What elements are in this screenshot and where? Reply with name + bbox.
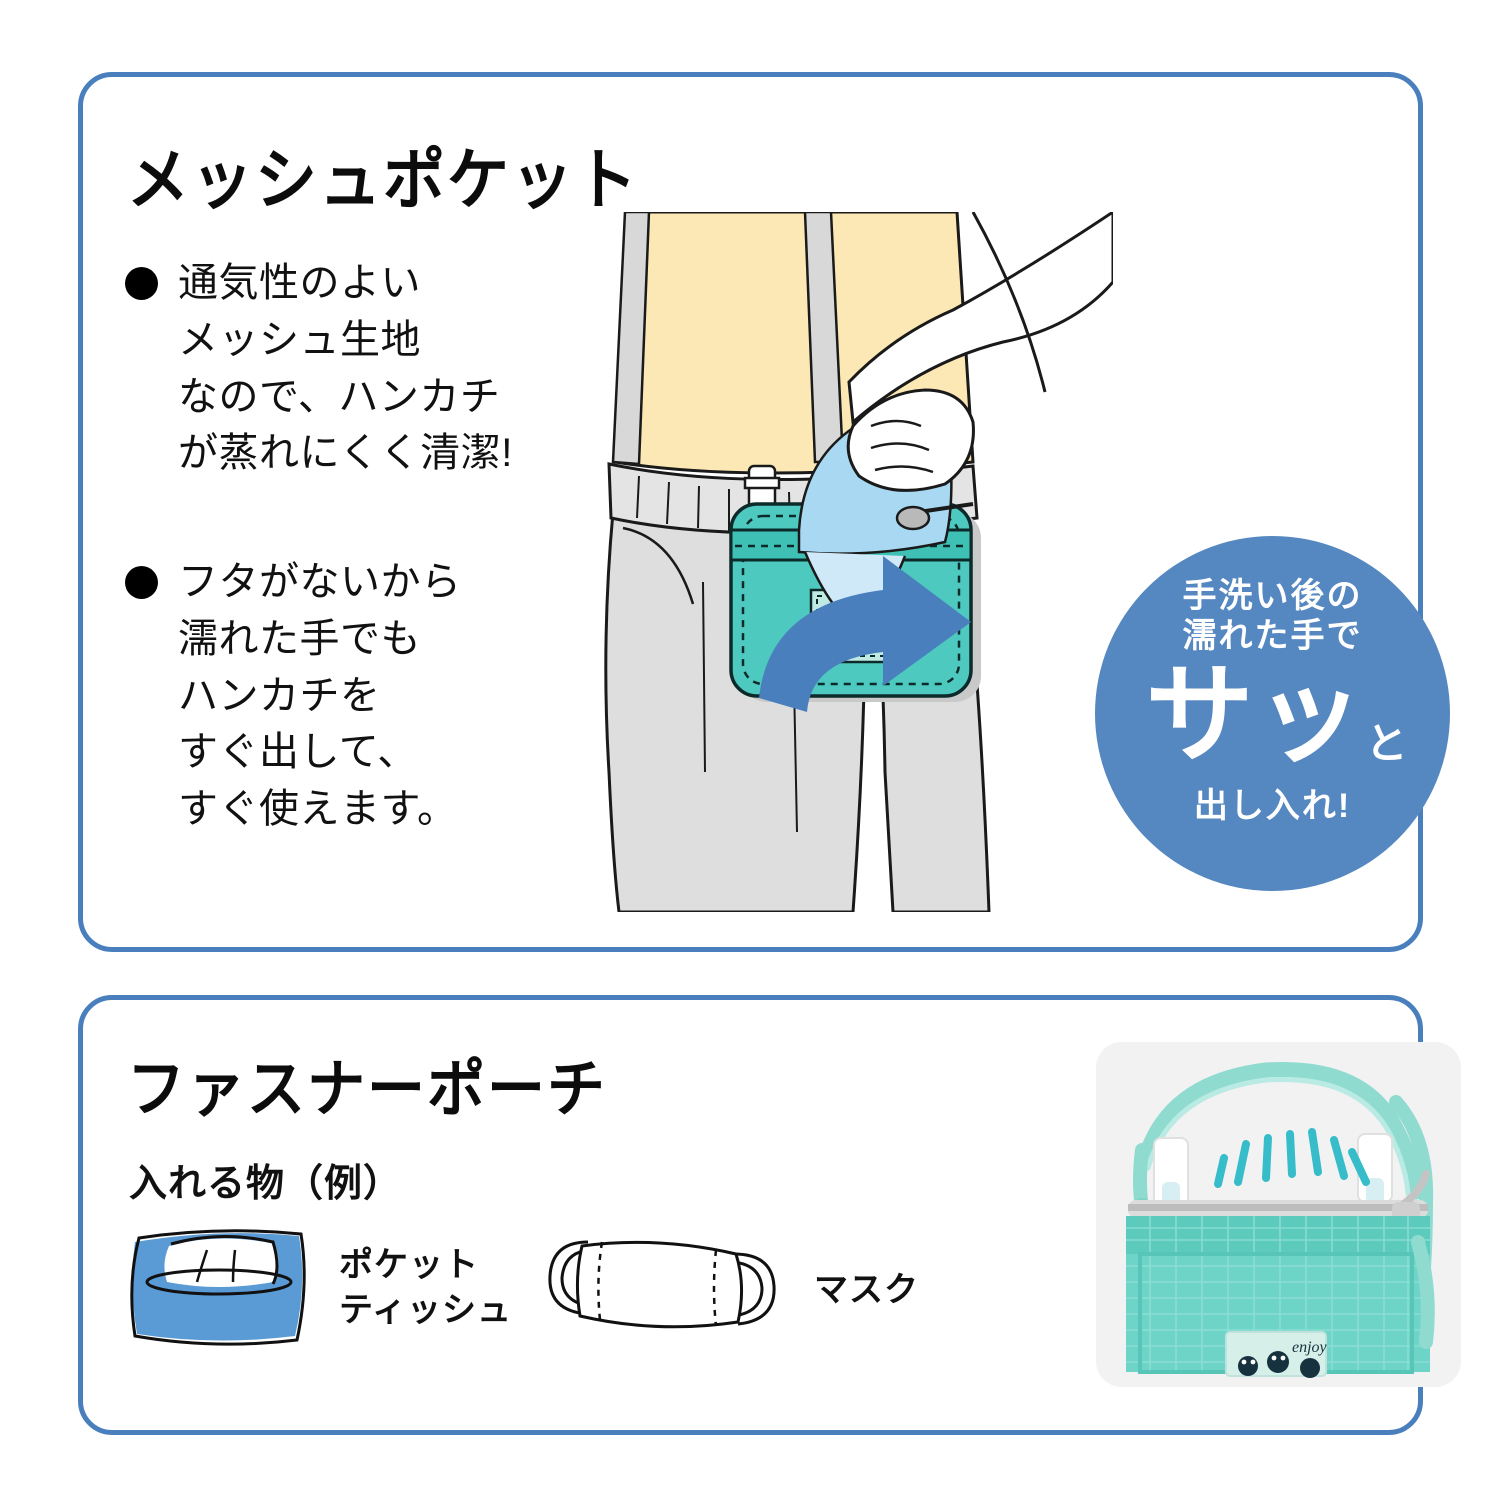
subhead-contents-example: 入れる物（例） xyxy=(129,1152,402,1207)
list-item: マスク xyxy=(538,1228,919,1353)
zipper-pouch-panel: ファスナーポーチ 入れる物（例） ポケット ティッシュ xyxy=(78,995,1423,1435)
badge-big-text: サッと xyxy=(1105,662,1450,770)
product-tag-text: enjoy xyxy=(1292,1339,1328,1356)
bullet-dot-icon xyxy=(125,267,158,300)
list-item-label: ポケット ティッシュ xyxy=(339,1243,512,1331)
bullet-dot-icon xyxy=(125,566,158,599)
mesh-pocket-panel: メッシュポケット 通気性のよい メッシュ生地 なので、ハンカチ が蒸れにくく清潔… xyxy=(78,72,1423,952)
badge-big-suffix: と xyxy=(1366,719,1410,768)
list-item-label: マスク xyxy=(814,1268,919,1312)
bullet-text: 通気性のよい メッシュ生地 なので、ハンカチ が蒸れにくく清潔! xyxy=(178,255,513,482)
person-wearing-pouch-illustration xyxy=(553,212,1113,912)
list-item: ポケット ティッシュ xyxy=(123,1220,512,1355)
bullet-item: 通気性のよい メッシュ生地 なので、ハンカチ が蒸れにくく清潔! xyxy=(125,255,513,482)
page-title-zipper-pouch: ファスナーポーチ xyxy=(127,1038,607,1129)
badge-big-word: サッ xyxy=(1145,653,1365,778)
mesh-pouch-product-photo: enjoy xyxy=(1096,1042,1461,1387)
pocket-tissue-icon xyxy=(123,1220,313,1355)
badge-bottom-text: 出し入れ! xyxy=(1095,786,1450,826)
bullet-item: フタがないから 濡れた手でも ハンカチを すぐ出して、 すぐ使えます。 xyxy=(125,554,462,838)
face-mask-icon xyxy=(538,1228,788,1353)
badge-top-text: 手洗い後の 濡れた手で xyxy=(1095,576,1450,656)
status-badge: 手洗い後の 濡れた手で サッと 出し入れ! xyxy=(1095,536,1450,891)
page-title-mesh-pocket: メッシュポケット xyxy=(127,125,639,222)
bullet-text: フタがないから 濡れた手でも ハンカチを すぐ出して、 すぐ使えます。 xyxy=(178,554,462,838)
